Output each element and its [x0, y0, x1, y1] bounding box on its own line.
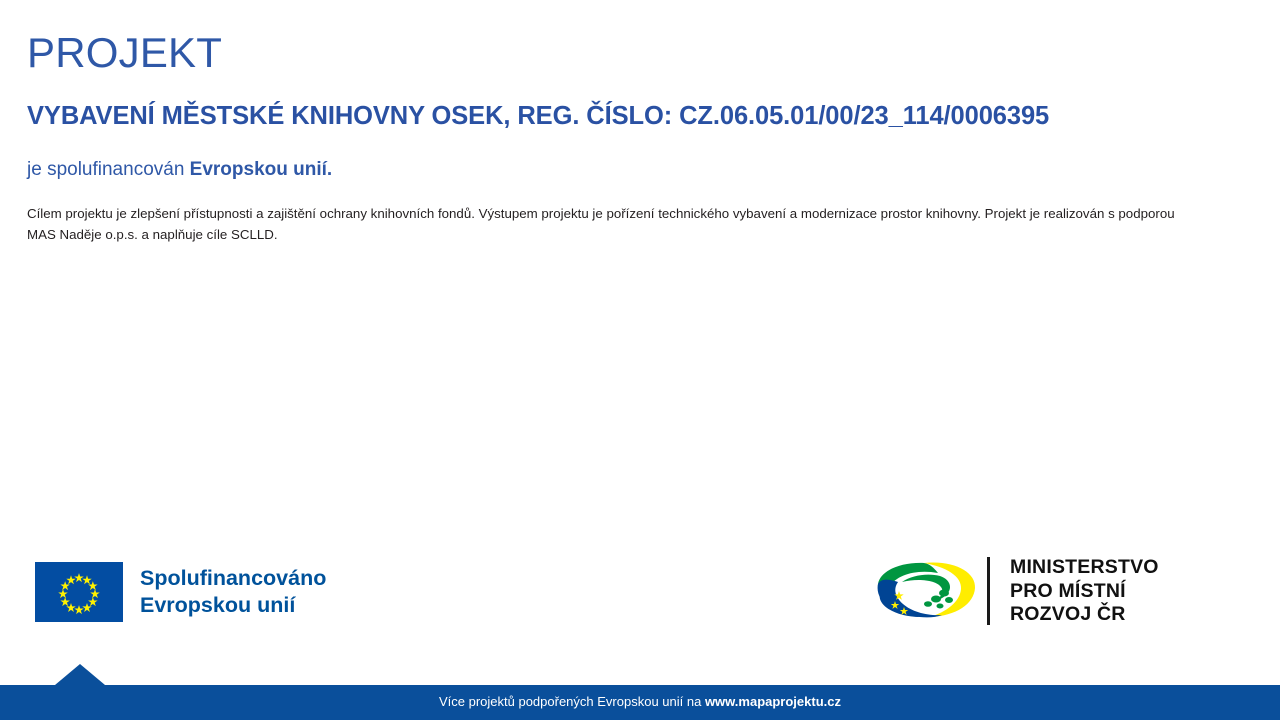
ministry-logo-line-2: PRO MÍSTNÍ	[1010, 580, 1159, 604]
page-kicker: PROJEKT	[27, 30, 222, 76]
slide-canvas: PROJEKT VYBAVENÍ MĚSTSKÉ KNIHOVNY OSEK, …	[0, 0, 1280, 720]
funding-subheading-plain: je spolufinancován	[27, 159, 190, 180]
eu-flag-icon	[35, 562, 123, 622]
footer-text: Více projektů podpořených Evropskou unií…	[0, 691, 1280, 713]
footer-arrow-icon	[55, 664, 105, 685]
funding-subheading-bold: Evropskou unií.	[190, 159, 333, 180]
ministry-logo-divider	[987, 557, 990, 625]
funding-subheading: je spolufinancován Evropskou unií.	[27, 157, 332, 182]
project-description: Cílem projektu je zlepšení přístupnosti …	[27, 203, 1187, 245]
eu-logo-line-1: Spolufinancováno	[140, 565, 326, 592]
footer-link[interactable]: www.mapaprojektu.cz	[705, 694, 841, 709]
eu-logo-line-2: Evropskou unií	[140, 592, 326, 619]
ministry-logo-line-3: ROZVOJ ČR	[1010, 603, 1159, 627]
footer-text-plain: Více projektů podpořených Evropskou unií…	[439, 694, 705, 709]
ministry-emblem-icon	[872, 560, 980, 622]
ministry-logo-text: MINISTERSTVO PRO MÍSTNÍ ROZVOJ ČR	[1010, 556, 1159, 627]
ministry-logo-line-1: MINISTERSTVO	[1010, 556, 1159, 580]
eu-logo-text: Spolufinancováno Evropskou unií	[140, 565, 326, 619]
eu-cofunding-logo: Spolufinancováno Evropskou unií	[35, 562, 326, 622]
ministry-logo: MINISTERSTVO PRO MÍSTNÍ ROZVOJ ČR	[872, 556, 1159, 627]
page-title: VYBAVENÍ MĚSTSKÉ KNIHOVNY OSEK, REG. ČÍS…	[27, 101, 1049, 132]
